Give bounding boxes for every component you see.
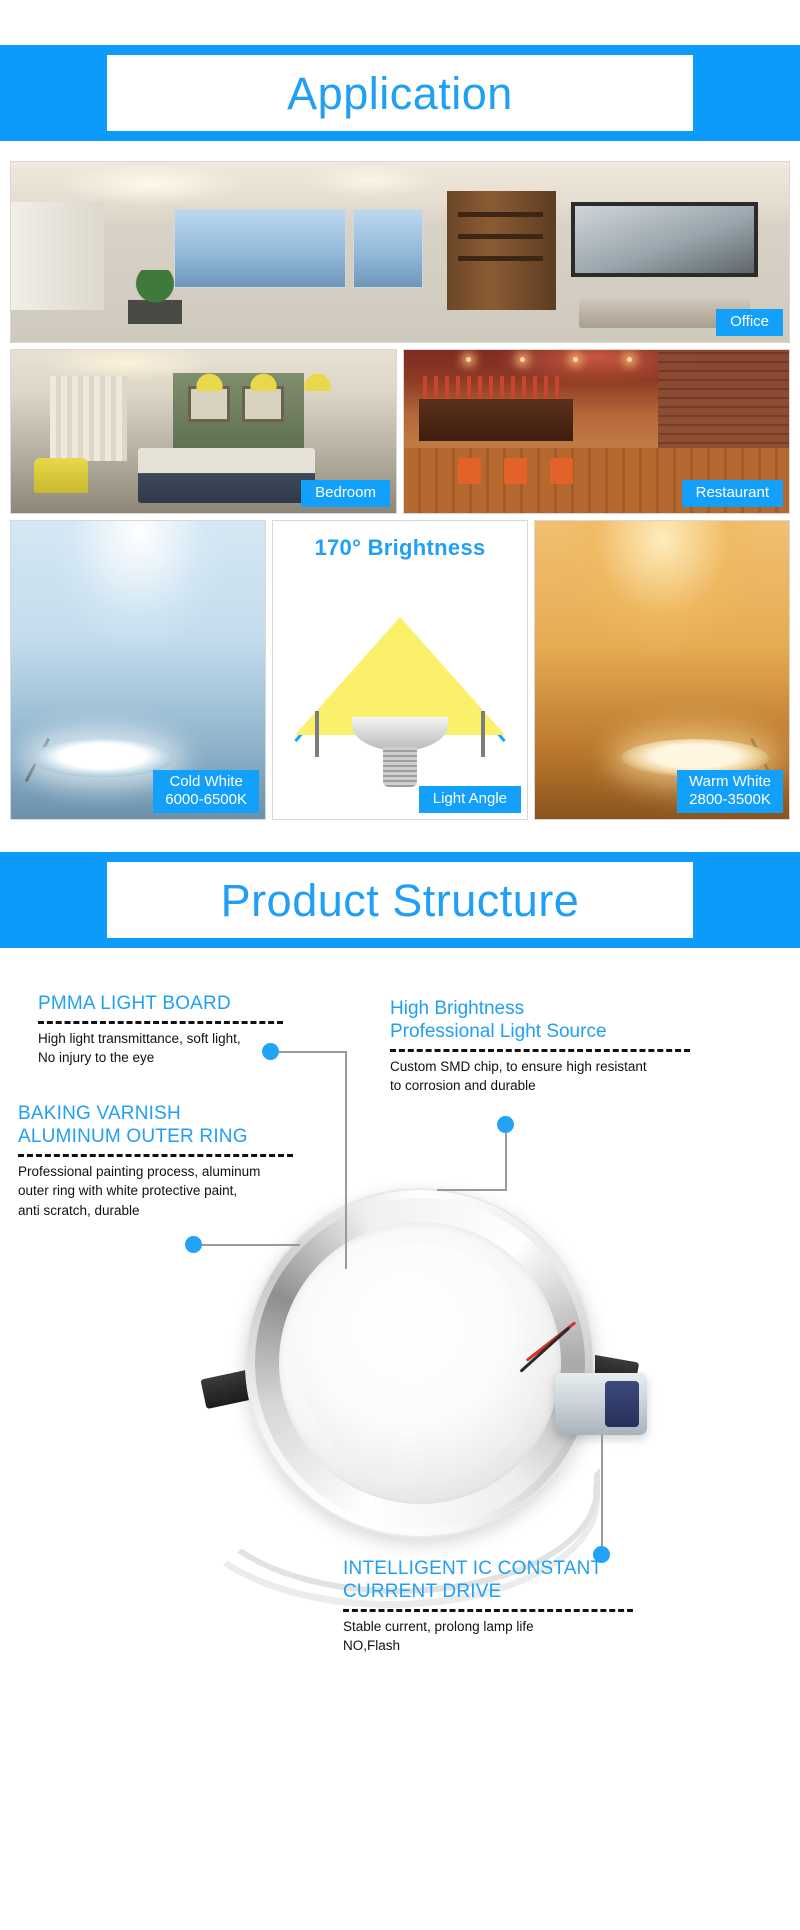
bedroom-picture-1 — [188, 386, 230, 422]
restaurant-bar-counter — [419, 399, 573, 441]
restaurant-brick-wall — [658, 350, 789, 451]
office-wood-panel — [447, 191, 556, 310]
leader-ic-v — [601, 1435, 603, 1553]
office-pillar — [11, 202, 104, 310]
callout-light-source-body: Custom SMD chip, to ensure high resistan… — [390, 1057, 690, 1096]
application-title: Application — [287, 71, 513, 116]
callout-ic-heading: INTELLIGENT IC CONSTANT CURRENT DRIVE — [343, 1558, 633, 1604]
downlight-bracket-right — [481, 711, 485, 757]
office-scene-image — [11, 162, 789, 343]
photo-row-2: Bedroom Restaurant — [10, 349, 790, 514]
light-cone-wrap — [273, 561, 527, 819]
photo-light-angle[interactable]: 170° Brightness Light Angle — [272, 520, 528, 820]
bedroom-curtain — [50, 376, 127, 461]
photo-cold-white[interactable]: Cold White 6000-6500K — [10, 520, 266, 820]
callout-ic-drive: INTELLIGENT IC CONSTANT CURRENT DRIVE St… — [343, 1558, 633, 1656]
application-banner-inner: Application — [107, 55, 693, 131]
downlight-bracket-left — [315, 711, 319, 757]
application-banner: Application — [0, 45, 800, 141]
bedroom-bed — [138, 448, 315, 503]
office-plant — [128, 270, 182, 324]
badge-warm-white: Warm White 2800-3500K — [677, 770, 783, 814]
downlight-product-icon — [352, 717, 448, 751]
callout-pmma-divider — [38, 1021, 283, 1024]
bedroom-pendant-2 — [250, 370, 277, 391]
photo-row-3: Cold White 6000-6500K 170° Brightness Li… — [10, 520, 790, 820]
photo-office[interactable]: Office — [10, 161, 790, 343]
photo-row-1: Office — [10, 161, 790, 343]
photo-bedroom[interactable]: Bedroom — [10, 349, 397, 514]
leader-pmma-v — [345, 1051, 347, 1269]
leader-light-source-h — [437, 1189, 507, 1191]
pmma-diffuser — [301, 1244, 539, 1482]
restaurant-bottle-shelf — [423, 376, 562, 399]
office-shelf-2 — [458, 234, 544, 239]
badge-restaurant: Restaurant — [682, 480, 783, 507]
badge-cold-white: Cold White 6000-6500K — [153, 770, 259, 814]
callout-dot-varnish[interactable] — [185, 1236, 202, 1253]
restaurant-spotlight-1 — [466, 357, 471, 362]
restaurant-stool-3 — [550, 458, 573, 484]
callout-pmma-heading: PMMA LIGHT BOARD — [38, 993, 283, 1016]
office-wall-art — [571, 202, 758, 278]
badge-bedroom: Bedroom — [301, 480, 390, 507]
office-shelf-3 — [458, 256, 544, 261]
application-photo-grid: Office Bedroom — [0, 161, 800, 820]
callout-dot-light-source[interactable] — [497, 1116, 514, 1133]
photo-restaurant[interactable]: Restaurant — [403, 349, 790, 514]
restaurant-stool-2 — [504, 458, 527, 484]
bedroom-chair — [34, 458, 88, 494]
leader-pmma-h — [279, 1051, 345, 1053]
bedroom-pendant-3 — [304, 370, 331, 391]
callout-ic-divider — [343, 1609, 633, 1612]
callout-varnish-heading: BAKING VARNISH ALUMINUM OUTER RING — [18, 1103, 293, 1149]
bedroom-picture-2 — [242, 386, 284, 422]
bedroom-pendant-1 — [196, 370, 223, 391]
structure-title: Product Structure — [221, 878, 580, 923]
restaurant-spotlight-4 — [627, 357, 632, 362]
cold-white-lamp — [31, 739, 173, 778]
badge-office: Office — [716, 309, 783, 336]
office-window — [174, 209, 345, 288]
structure-banner-inner: Product Structure — [107, 862, 693, 938]
leader-light-source-v — [505, 1133, 507, 1189]
restaurant-spotlight-2 — [520, 357, 525, 362]
callout-varnish-divider — [18, 1154, 293, 1157]
callout-light-source: High Brightness Professional Light Sourc… — [390, 998, 690, 1096]
light-angle-scene-image: 170° Brightness — [273, 521, 527, 819]
restaurant-spotlight-3 — [573, 357, 578, 362]
callout-ic-body: Stable current, prolong lamp life NO,Fla… — [343, 1617, 633, 1656]
light-angle-title: 170° Brightness — [314, 535, 485, 561]
product-structure-diagram: PMMA LIGHT BOARD High light transmittanc… — [0, 948, 800, 1743]
callout-baking-varnish: BAKING VARNISH ALUMINUM OUTER RING Profe… — [18, 1103, 293, 1220]
restaurant-stool-1 — [458, 458, 481, 484]
callout-pmma-light-board: PMMA LIGHT BOARD High light transmittanc… — [38, 993, 283, 1068]
callout-varnish-body: Professional painting process, aluminum … — [18, 1162, 293, 1221]
office-window-2 — [353, 209, 423, 288]
office-shelf-1 — [458, 212, 544, 217]
callout-light-source-heading: High Brightness Professional Light Sourc… — [390, 998, 690, 1044]
photo-warm-white[interactable]: Warm White 2800-3500K — [534, 520, 790, 820]
leader-varnish-h — [202, 1244, 300, 1246]
callout-pmma-body: High light transmittance, soft light, No… — [38, 1029, 283, 1068]
structure-banner: Product Structure — [0, 852, 800, 948]
badge-light-angle: Light Angle — [419, 786, 521, 813]
callout-light-source-divider — [390, 1049, 690, 1052]
callout-dot-pmma[interactable] — [262, 1043, 279, 1060]
led-driver-box — [555, 1373, 647, 1435]
